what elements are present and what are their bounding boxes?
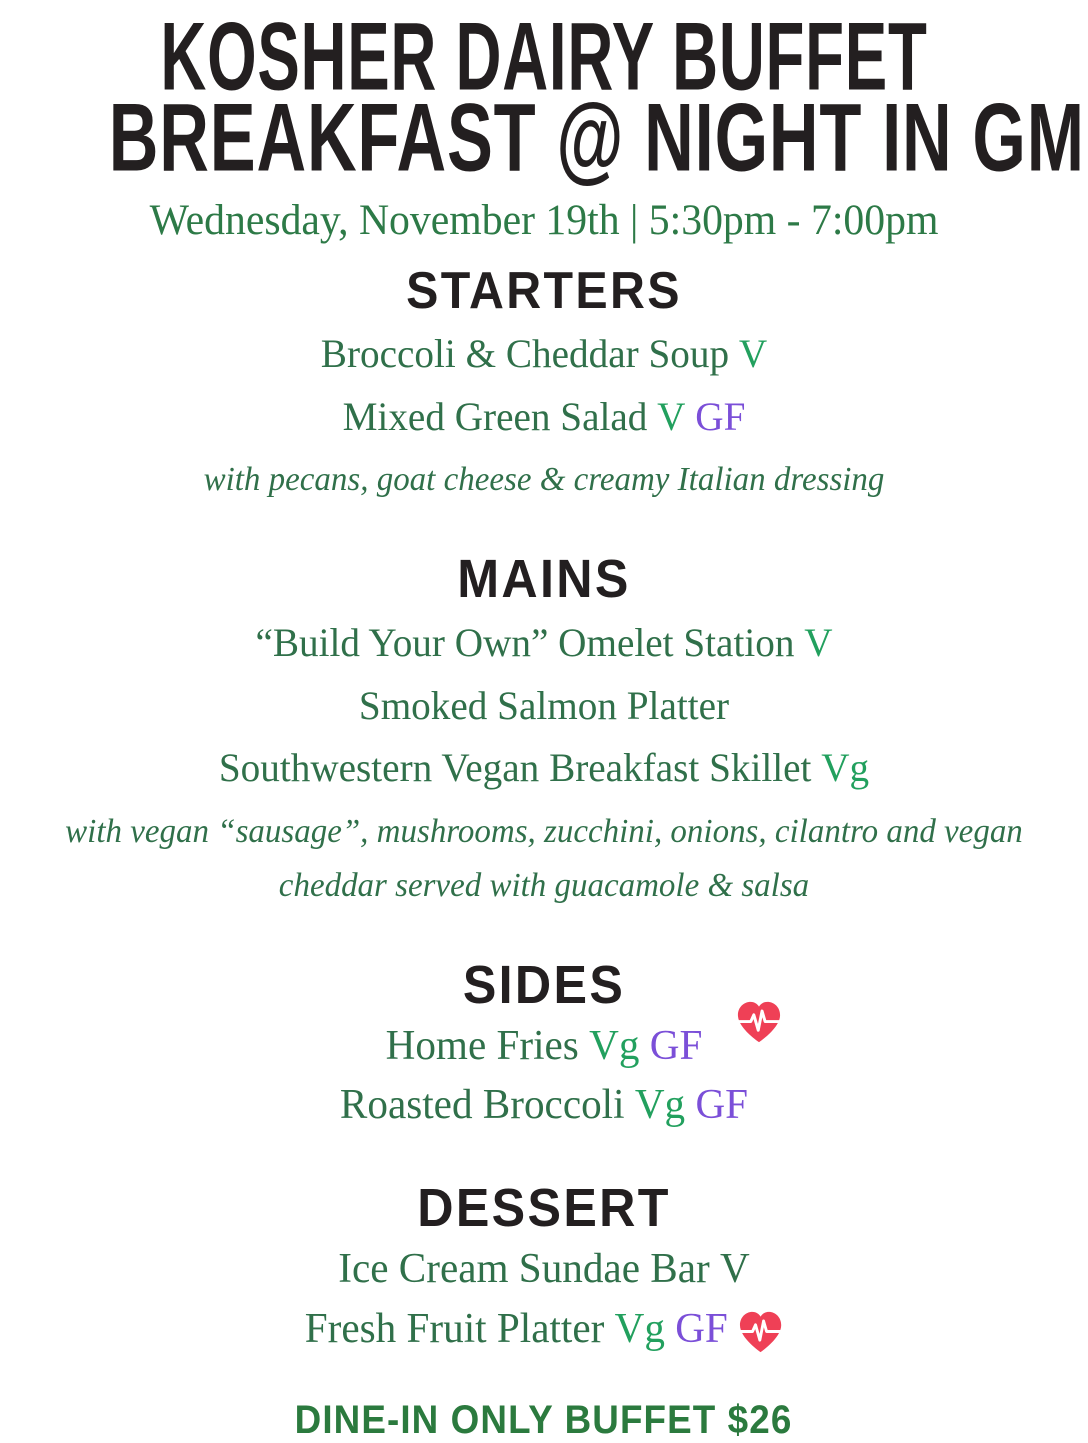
diet-tag-gf-text: GF (695, 394, 745, 439)
menu-item-name: Home Fries (386, 1023, 579, 1069)
page-title-line-2: BREAKFAST @ NIGHT IN GMH (109, 94, 979, 183)
menu-item-description-line-2: cheddar served with guacamole & salsa (16, 864, 1071, 908)
menu-item-name: Roasted Broccoli (340, 1082, 625, 1128)
heart-pulse-icon (736, 1000, 782, 1044)
diet-tag-gf-text: GF (695, 1082, 748, 1128)
menu-item-name: “Build Your Own” Omelet Station (255, 620, 794, 665)
menu-item-fresh-fruit-platter: Fresh Fruit Platter Vg GF (11, 1305, 1077, 1355)
diet-tag-v-text: V (720, 1246, 750, 1292)
menu-item-description: with pecans, goat cheese & creamy Italia… (16, 458, 1071, 502)
diet-tag-vg-text: Vg (615, 1306, 665, 1352)
poster-header: KOSHER DAIRY BUFFET BREAKFAST @ NIGHT IN… (0, 18, 1088, 243)
section-header-mains: MAINS (38, 552, 1050, 606)
diet-tag-vg-text: Vg (635, 1082, 685, 1128)
menu-item-home-fries: Home Fries Vg GF (11, 1022, 1077, 1072)
buffet-price-note: DINE-IN ONLY BUFFET $26 (295, 1398, 793, 1443)
menu-item-omelet-station: “Build Your Own” Omelet Station V (11, 618, 1077, 668)
diet-tag-vg-text: Vg (821, 745, 869, 790)
diet-tag-v-text: V (739, 331, 767, 376)
section-mains: MAINS “Build Your Own” Omelet Station V … (0, 552, 1088, 908)
section-starters: STARTERS Broccoli & Cheddar Soup V Mixed… (0, 265, 1088, 502)
menu-item-roasted-broccoli: Roasted Broccoli Vg GF (11, 1081, 1077, 1131)
diet-tag-vg-text: Vg (589, 1023, 639, 1069)
menu-item-name: Broccoli & Cheddar Soup (321, 331, 729, 376)
diet-tag-v (729, 331, 739, 376)
section-dessert: DESSERT Ice Cream Sundae Bar V Fresh Fru… (0, 1181, 1088, 1354)
menu-item-name: Smoked Salmon Platter (359, 683, 729, 728)
menu-item-mixed-green-salad: Mixed Green Salad V GF (11, 392, 1077, 442)
menu-item-name: Fresh Fruit Platter (305, 1306, 605, 1352)
diet-tag-v-text: V (804, 620, 832, 665)
menu-item-ice-cream-sundae-bar: Ice Cream Sundae Bar V (11, 1245, 1077, 1295)
section-sides: SIDES Home Fries Vg GF Roasted Broccoli … (0, 958, 1088, 1131)
section-header-sides: SIDES (38, 958, 1050, 1012)
menu-item-name: Mixed Green Salad (343, 394, 648, 439)
section-header-dessert: DESSERT (38, 1181, 1050, 1235)
menu-item-broccoli-cheddar-soup: Broccoli & Cheddar Soup V (11, 329, 1077, 379)
menu-item-name: Southwestern Vegan Breakfast Skillet (219, 745, 812, 790)
menu-item-southwestern-skillet: Southwestern Vegan Breakfast Skillet Vg (11, 743, 1077, 793)
section-header-starters: STARTERS (38, 265, 1050, 317)
heart-pulse-icon (738, 1310, 783, 1354)
menu-poster: KOSHER DAIRY BUFFET BREAKFAST @ NIGHT IN… (0, 0, 1088, 1408)
event-datetime: Wednesday, November 19th | 5:30pm - 7:00… (16, 198, 1071, 243)
diet-tag-v-text: V (657, 394, 685, 439)
menu-item-name: Ice Cream Sundae Bar (338, 1246, 709, 1292)
diet-tag-gf-text: GF (650, 1023, 703, 1069)
diet-tag-gf-text: GF (675, 1306, 728, 1352)
menu-item-description-line-1: with vegan “sausage”, mushrooms, zucchin… (16, 810, 1071, 854)
menu-item-smoked-salmon-platter: Smoked Salmon Platter (11, 681, 1077, 731)
